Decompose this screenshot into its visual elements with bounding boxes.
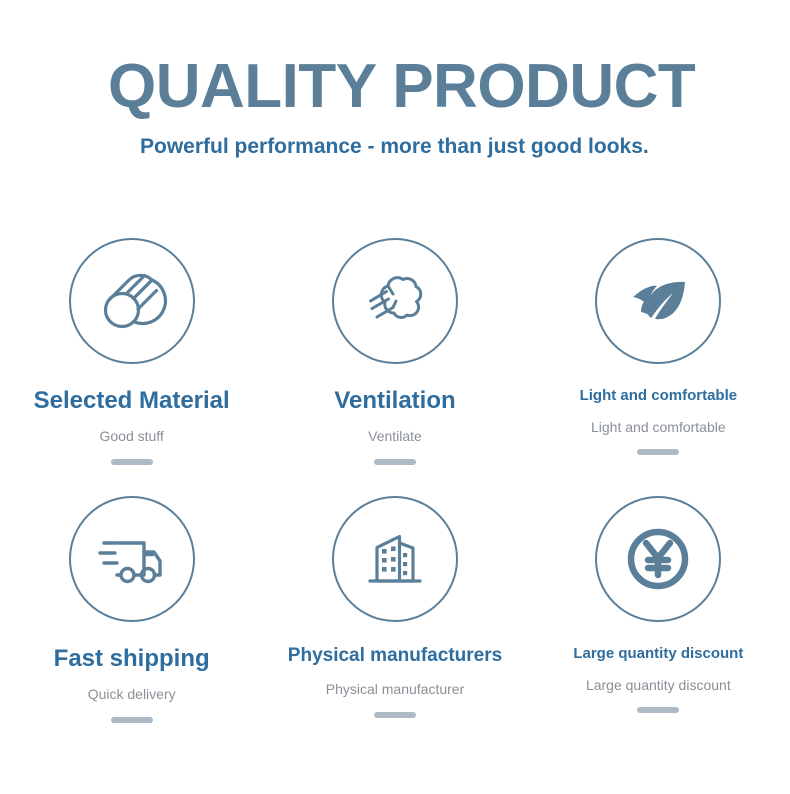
feature-subtitle: Ventilate — [368, 428, 422, 445]
yen-coin-icon — [618, 519, 698, 599]
delivery-truck-icon — [94, 521, 170, 597]
feature-card-light-and-comfortable: Light and comfortable Light and comforta… — [527, 238, 790, 496]
feature-subtitle: Good stuff — [99, 428, 163, 445]
quality-product-banner: QUALITY PRODUCT Powerful performance - m… — [0, 0, 790, 794]
feature-card-physical-manufacturers: Physical manufacturers Physical manufact… — [263, 496, 526, 754]
leaves-icon — [621, 264, 695, 338]
feature-card-large-quantity-discount: Large quantity discount Large quantity d… — [527, 496, 790, 754]
feature-icon-circle — [69, 496, 195, 622]
feature-divider — [111, 459, 153, 465]
feature-icon-circle — [595, 238, 721, 364]
feature-icon-circle — [69, 238, 195, 364]
feature-title: Light and comfortable — [580, 388, 738, 405]
feature-icon-circle — [332, 238, 458, 364]
cylinder-tube-icon — [95, 264, 169, 338]
feature-icon-circle — [332, 496, 458, 622]
feature-title: Large quantity discount — [573, 646, 743, 663]
feature-grid: Selected Material Good stuff Vent — [0, 238, 790, 754]
feature-title: Fast shipping — [54, 646, 210, 672]
feature-title: Ventilation — [334, 388, 455, 414]
feature-card-fast-shipping: Fast shipping Quick delivery — [0, 496, 263, 754]
wind-cloud-icon — [358, 264, 432, 338]
feature-title: Selected Material — [34, 388, 230, 414]
feature-card-ventilation: Ventilation Ventilate — [263, 238, 526, 496]
feature-title: Physical manufacturers — [288, 646, 502, 667]
factory-buildings-icon — [357, 521, 433, 597]
feature-icon-circle — [595, 496, 721, 622]
feature-card-selected-material: Selected Material Good stuff — [0, 238, 263, 496]
header: QUALITY PRODUCT Powerful performance - m… — [0, 0, 790, 161]
feature-divider — [111, 717, 153, 723]
feature-subtitle: Quick delivery — [88, 686, 176, 703]
feature-divider — [374, 459, 416, 465]
page-title: QUALITY PRODUCT — [108, 56, 790, 118]
feature-subtitle: Light and comfortable — [591, 419, 726, 436]
feature-subtitle: Large quantity discount — [586, 677, 731, 694]
feature-divider — [374, 712, 416, 718]
feature-divider — [637, 707, 679, 713]
feature-divider — [637, 449, 679, 455]
page-subtitle: Powerful performance - more than just go… — [140, 134, 660, 161]
feature-subtitle: Physical manufacturer — [326, 681, 465, 698]
